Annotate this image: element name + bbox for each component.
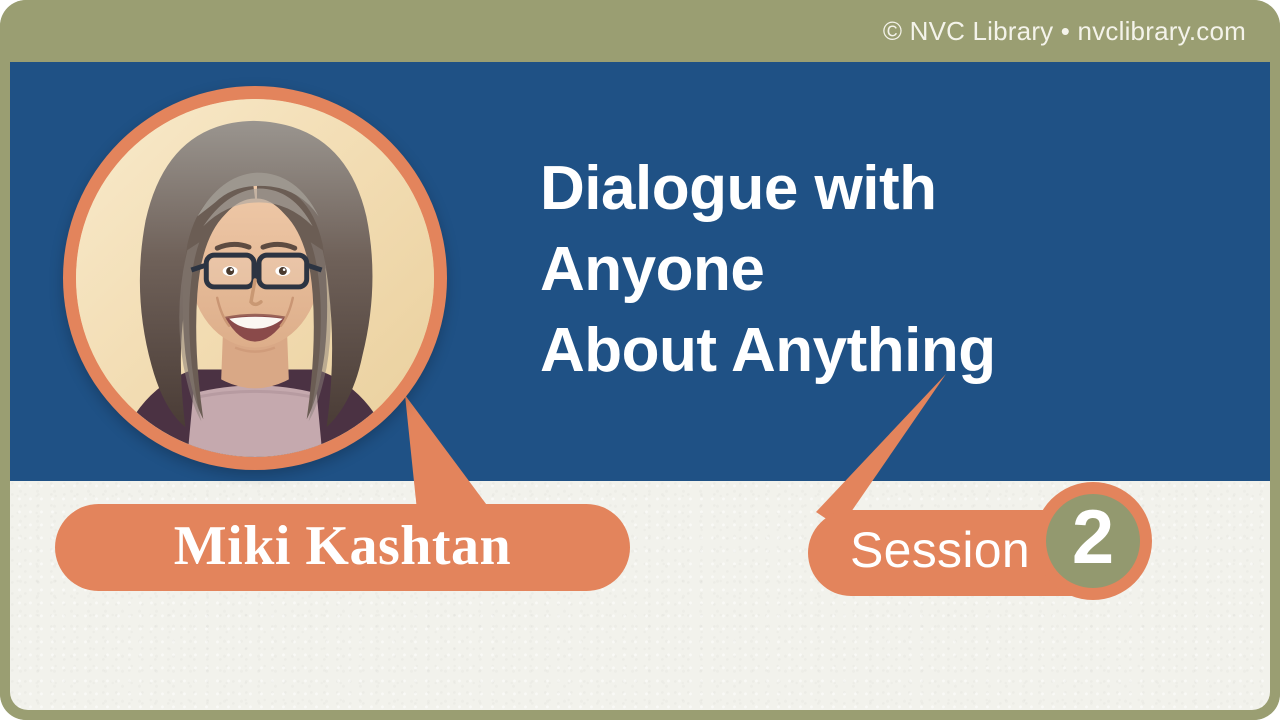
- copyright-notice: © NVC Library • nvclibrary.com: [883, 0, 1246, 62]
- session-number-label: 2: [1072, 500, 1114, 576]
- video-title-slide: © NVC Library • nvclibrary.com: [0, 0, 1280, 720]
- presenter-name-label: Miki Kashtan: [174, 514, 511, 578]
- session-number-badge: 2: [1034, 482, 1152, 600]
- session-bubble-tail: [800, 372, 980, 532]
- title-line-3: About Anything: [540, 310, 996, 391]
- title-line-2: Anyone: [540, 229, 996, 310]
- session-title: Dialogue with Anyone About Anything: [540, 148, 996, 392]
- presenter-avatar: [63, 86, 447, 470]
- title-line-1: Dialogue with: [540, 148, 996, 229]
- presenter-name-badge: Miki Kashtan: [55, 504, 630, 591]
- slide-card: Dialogue with Anyone About Anything Miki…: [10, 62, 1270, 710]
- avatar-photo: [76, 99, 434, 457]
- session-label: Session: [850, 521, 1030, 579]
- session-number-circle: 2: [1046, 494, 1140, 588]
